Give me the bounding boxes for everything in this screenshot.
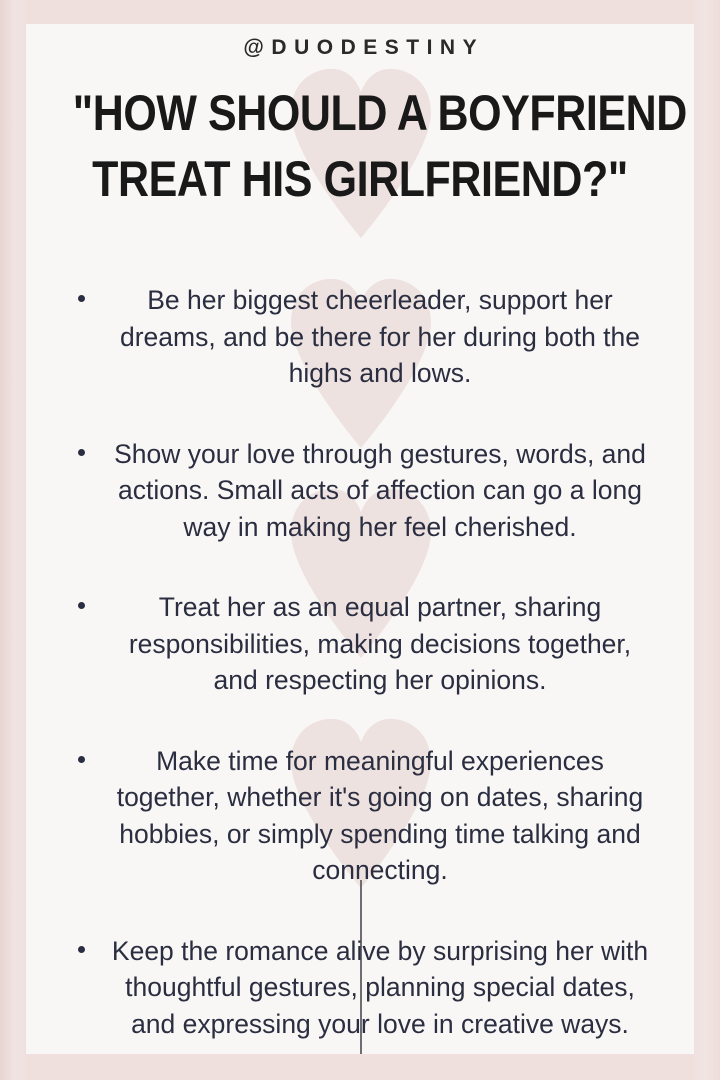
bullet-dot-icon [78,295,85,302]
bullet-dot-icon [78,756,85,763]
list-item: Keep the romance alive by surprising her… [26,933,694,1043]
page-title-line-1: "HOW SHOULD A BOYFRIEND [73,80,647,146]
list-item: Be her biggest cheerleader, support her … [26,282,694,392]
poster-card: @DUODESTINY "HOW SHOULD A BOYFRIEND TREA… [26,24,694,1054]
advice-list: Be her biggest cheerleader, support her … [26,282,694,1042]
list-item: Show your love through gestures, words, … [26,436,694,546]
list-item-text: Keep the romance alive by surprising her… [104,933,656,1043]
bullet-dot-icon [78,946,85,953]
list-item: Treat her as an equal partner, sharing r… [26,589,694,699]
bullet-dot-icon [78,449,85,456]
account-handle: @DUODESTINY [26,36,694,60]
page-title: "HOW SHOULD A BOYFRIEND TREAT HIS GIRLFR… [73,80,647,212]
list-item-text: Be her biggest cheerleader, support her … [104,282,656,392]
list-item-text: Treat her as an equal partner, sharing r… [104,589,656,699]
page-title-line-2: TREAT HIS GIRLFRIEND?" [73,146,647,212]
poster-frame: @DUODESTINY "HOW SHOULD A BOYFRIEND TREA… [0,0,720,1080]
list-item: Make time for meaningful experiences tog… [26,743,694,889]
list-item-text: Make time for meaningful experiences tog… [104,743,656,889]
bullet-dot-icon [78,602,85,609]
list-item-text: Show your love through gestures, words, … [104,436,656,546]
